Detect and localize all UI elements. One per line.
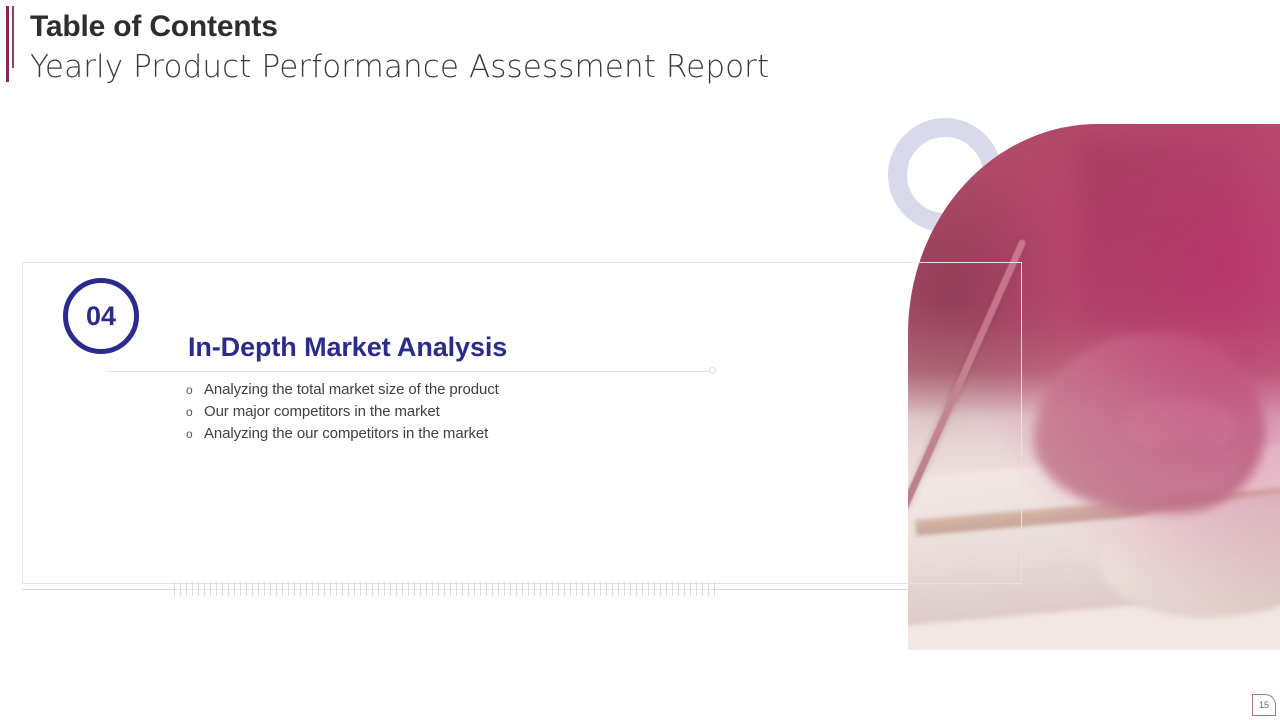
circle-bullet-icon: o (186, 379, 204, 401)
header-accent-bar (6, 6, 9, 82)
content-card (22, 262, 1022, 584)
page-subtitle: Yearly Product Performance Assessment Re… (30, 46, 930, 88)
circle-bullet-icon: o (186, 423, 204, 445)
list-item: o Analyzing the total market size of the… (186, 379, 499, 401)
circle-bullet-icon: o (186, 401, 204, 423)
rule-segment-right (716, 589, 912, 590)
section-heading-underline-endpoint (709, 367, 716, 374)
list-item-label: Our major competitors in the market (204, 401, 440, 423)
header: Table of Contents Yearly Product Perform… (30, 8, 930, 88)
page-number-badge: 15 (1252, 694, 1276, 716)
bullet-list: o Analyzing the total market size of the… (186, 379, 499, 445)
list-item: o Our major competitors in the market (186, 401, 499, 423)
page-number-label: 15 (1259, 701, 1269, 710)
section-number-label: 04 (86, 303, 116, 330)
list-item-label: Analyzing the our competitors in the mar… (204, 423, 488, 445)
header-accent-bar-secondary (12, 6, 14, 68)
list-item: o Analyzing the our competitors in the m… (186, 423, 499, 445)
section-number-badge: 04 (63, 278, 139, 354)
section-heading-underline (107, 371, 711, 372)
list-item-label: Analyzing the total market size of the p… (204, 379, 499, 401)
rule-hatch-ticks (174, 582, 716, 596)
page-title: Table of Contents (30, 8, 930, 46)
card-bottom-rule (22, 582, 912, 596)
section-heading: In-Depth Market Analysis (188, 330, 507, 364)
rule-segment-left (22, 589, 174, 590)
